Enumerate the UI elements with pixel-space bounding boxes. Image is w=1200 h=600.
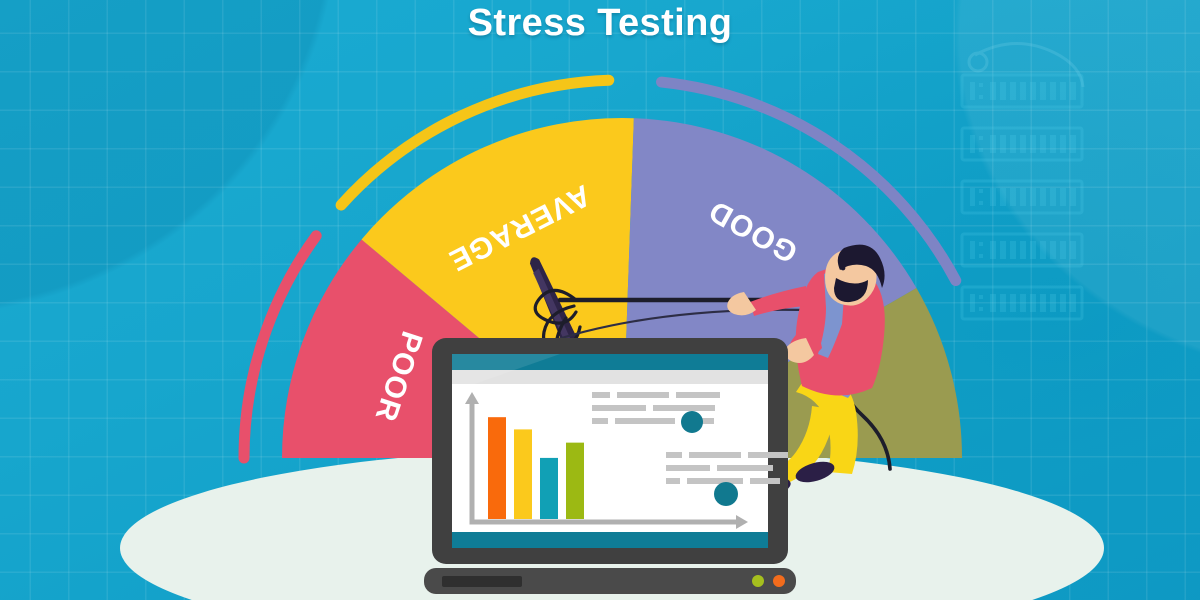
text-block-bottom-segment	[689, 452, 741, 458]
laptop	[0, 0, 1200, 600]
text-block-bottom-segment	[717, 465, 773, 471]
text-block-bottom-segment	[748, 452, 788, 458]
screen-chart-bar	[488, 417, 506, 519]
screen-dot-2	[714, 482, 738, 506]
text-block-top-segment	[592, 405, 646, 411]
laptop-lid	[432, 338, 788, 564]
text-block-top-segment	[615, 418, 675, 424]
text-block-bottom-segment	[750, 478, 780, 484]
text-block-bottom-segment	[666, 465, 710, 471]
text-block-top-segment	[676, 392, 720, 398]
text-block-top-segment	[592, 418, 608, 424]
text-block-bottom-segment	[666, 452, 682, 458]
text-block-top-segment	[617, 392, 669, 398]
screen-chart-bar	[540, 458, 558, 519]
screen-chart-bar	[566, 443, 584, 519]
text-block-bottom-segment	[687, 478, 743, 484]
text-block-top-segment	[592, 392, 610, 398]
text-block-bottom-segment	[666, 478, 680, 484]
screen-chart-bar	[514, 429, 532, 519]
illustration-canvas: POORAVERAGEGOOD	[0, 0, 1200, 600]
screen-dot-1	[681, 411, 703, 433]
text-block-top-segment	[653, 405, 715, 411]
laptop-base	[424, 568, 796, 594]
page-title: Stress Testing	[0, 2, 1200, 45]
